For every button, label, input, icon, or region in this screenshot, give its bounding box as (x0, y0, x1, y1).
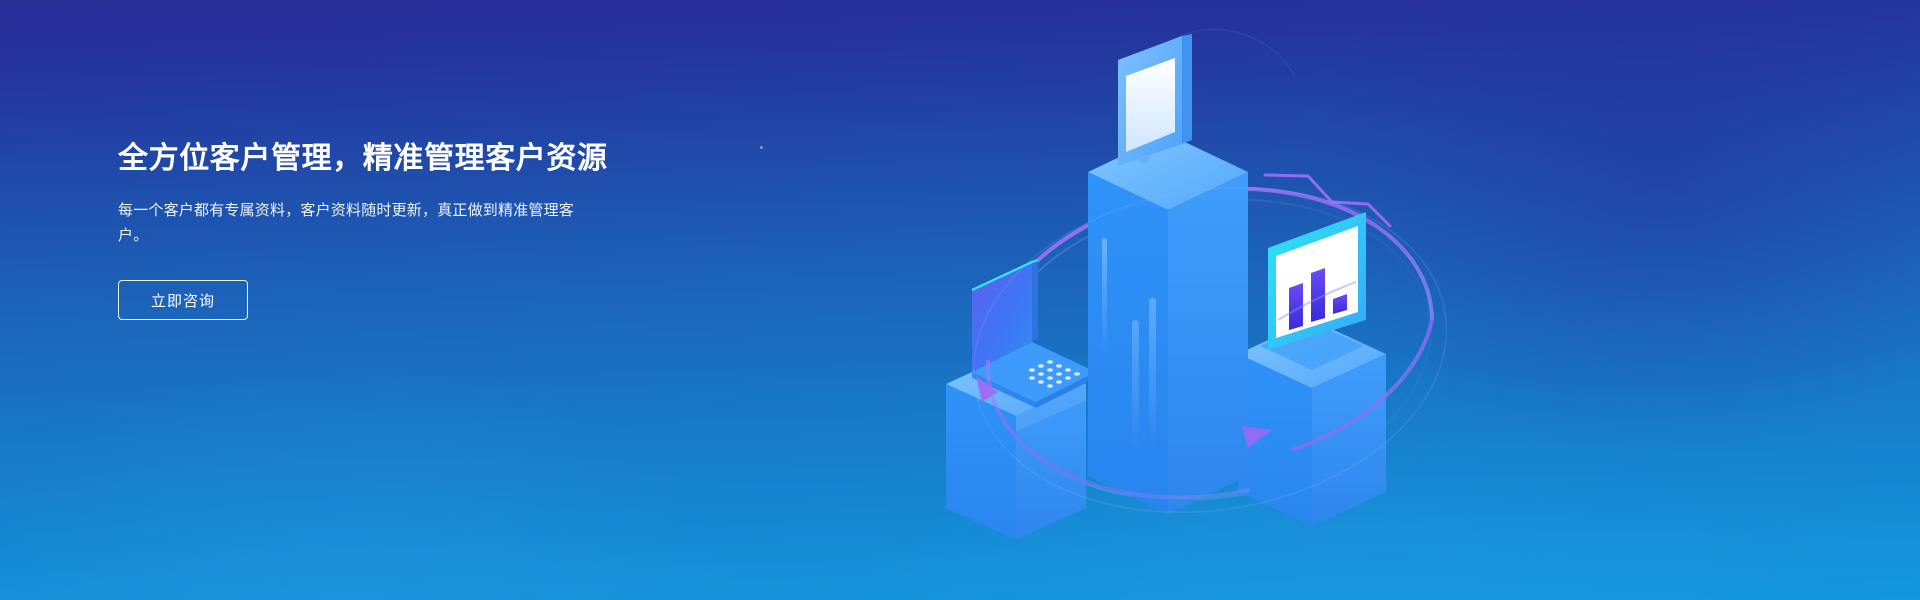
decorative-dot (760, 146, 763, 149)
page-title: 全方位客户管理，精准管理客户资源 (118, 138, 738, 180)
tablet-home-button (1139, 155, 1149, 164)
hero-illustration (920, 20, 1480, 580)
hero-subtitle: 每一个客户都有专属资料，客户资料随时更新，真正做到精准管理客户。 (118, 198, 598, 248)
hero-banner: 全方位客户管理，精准管理客户资源 每一个客户都有专属资料，客户资料随时更新，真正… (0, 0, 1920, 600)
hero-content: 全方位客户管理，精准管理客户资源 每一个客户都有专属资料，客户资料随时更新，真正… (118, 138, 738, 320)
consult-now-button[interactable]: 立即咨询 (118, 280, 248, 320)
pillar-center (1088, 134, 1248, 514)
monitor-icon (1260, 212, 1366, 370)
